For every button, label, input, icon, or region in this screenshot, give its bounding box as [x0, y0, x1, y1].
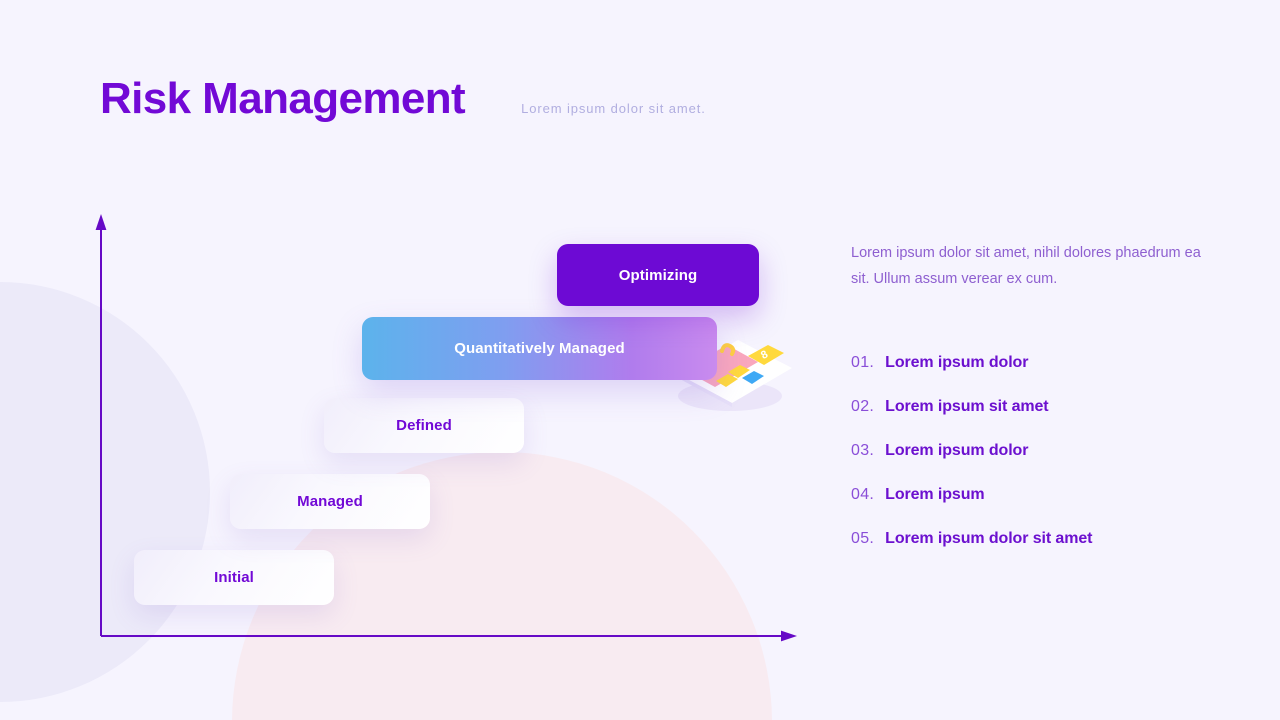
list-item[interactable]: 05. Lorem ipsum dolor sit amet: [851, 530, 1211, 548]
list-item-number: 02.: [851, 398, 874, 416]
description-paragraph: Lorem ipsum dolor sit amet, nihil dolore…: [851, 240, 1211, 292]
list-item-number: 05.: [851, 530, 874, 548]
x-axis-arrowhead-icon: [781, 631, 797, 642]
numbered-list: 01. Lorem ipsum dolor 02. Lorem ipsum si…: [851, 354, 1211, 548]
page-header: Risk Management Lorem ipsum dolor sit am…: [100, 74, 706, 124]
list-item[interactable]: 04. Lorem ipsum: [851, 486, 1211, 504]
list-item-label: Lorem ipsum dolor sit amet: [885, 530, 1092, 548]
list-item[interactable]: 03. Lorem ipsum dolor: [851, 442, 1211, 460]
step-card-managed[interactable]: Managed: [230, 474, 430, 529]
step-label: Managed: [297, 493, 363, 510]
list-item-number: 03.: [851, 442, 874, 460]
step-label: Initial: [214, 569, 254, 586]
right-content-column: Lorem ipsum dolor sit amet, nihil dolore…: [851, 240, 1211, 548]
page-title: Risk Management: [100, 74, 465, 124]
list-item-label: Lorem ipsum dolor: [885, 442, 1028, 460]
step-card-optimizing[interactable]: Optimizing: [557, 244, 759, 306]
page-subtitle: Lorem ipsum dolor sit amet.: [521, 101, 706, 116]
list-item-label: Lorem ipsum: [885, 486, 984, 504]
list-item-label: Lorem ipsum dolor: [885, 354, 1028, 372]
list-item-number: 04.: [851, 486, 874, 504]
step-label: Optimizing: [619, 267, 698, 284]
list-item[interactable]: 01. Lorem ipsum dolor: [851, 354, 1211, 372]
step-card-quantitatively-managed[interactable]: Quantitatively Managed: [362, 317, 717, 380]
step-label: Defined: [396, 417, 452, 434]
step-card-initial[interactable]: Initial: [134, 550, 334, 605]
list-item[interactable]: 02. Lorem ipsum sit amet: [851, 398, 1211, 416]
step-card-defined[interactable]: Defined: [324, 398, 524, 453]
list-item-number: 01.: [851, 354, 874, 372]
y-axis-arrowhead-icon: [96, 214, 107, 230]
list-item-label: Lorem ipsum sit amet: [885, 398, 1048, 416]
maturity-staircase-diagram: 8 Initial Managed Defined Quantitatively…: [92, 212, 802, 652]
step-label: Quantitatively Managed: [454, 340, 625, 357]
